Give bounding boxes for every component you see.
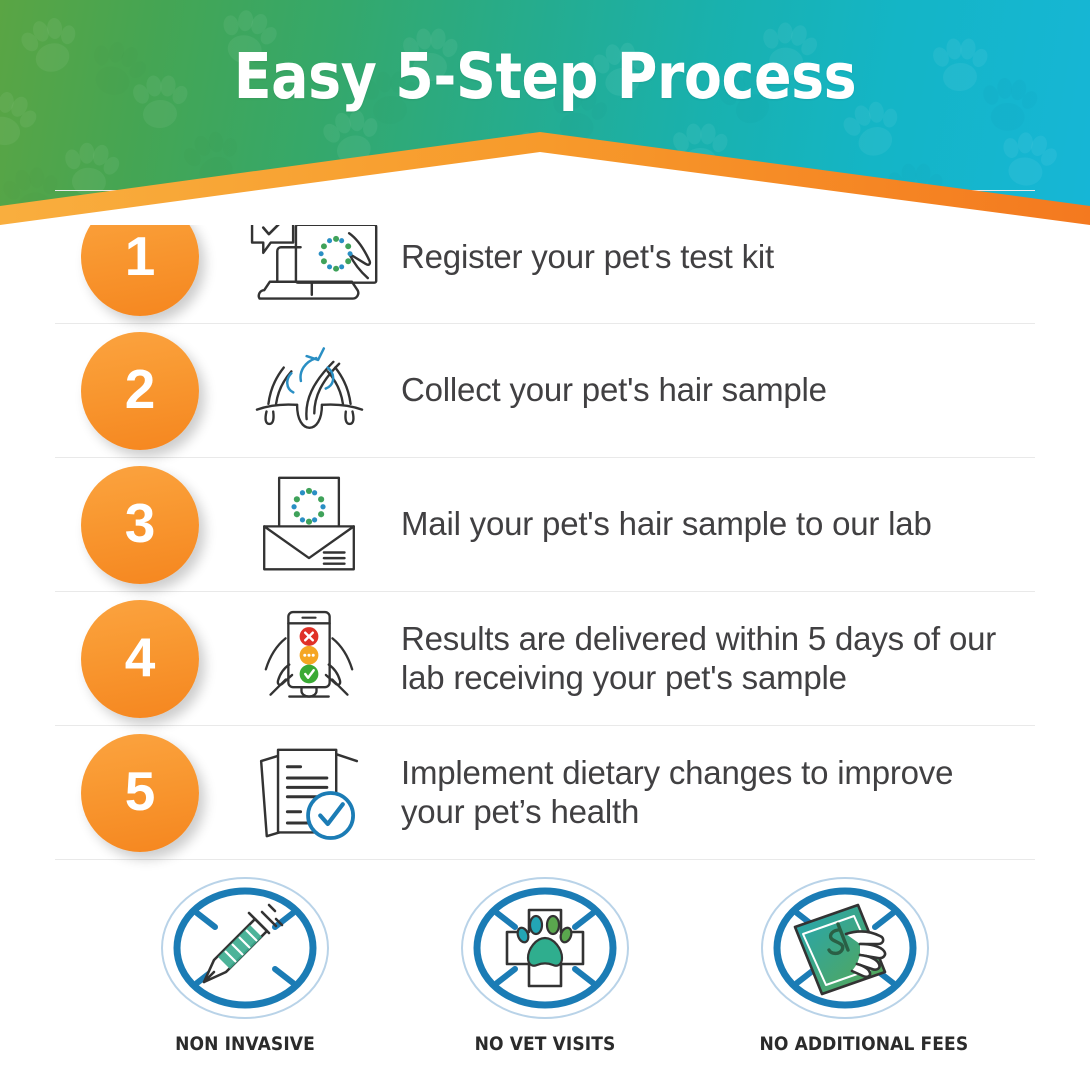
infographic-page: Easy 5-Step Process 1 [0, 0, 1090, 1070]
badge-no-vet-visits[interactable]: NO VET VISITS [450, 872, 640, 1055]
badge-label: NON INVASIVE [160, 1033, 331, 1055]
step-number-badge: 4 [81, 600, 199, 718]
step-number: 4 [125, 630, 156, 685]
step-number: 3 [125, 496, 156, 551]
phone-results-icon [239, 603, 379, 715]
step-label: Mail your pet's hair sample to our lab [401, 505, 1035, 544]
badge-label: NO VET VISITS [460, 1033, 631, 1055]
step-row[interactable]: 4 [55, 592, 1035, 726]
step-number-badge: 5 [81, 734, 199, 852]
steps-list: 1 [0, 190, 1090, 860]
chevron-divider [0, 120, 1090, 225]
documents-check-icon [239, 737, 379, 849]
step-label: Register your pet's test kit [401, 238, 1035, 277]
step-number: 2 [125, 362, 156, 417]
syringe-icon [150, 872, 340, 1027]
step-number: 5 [125, 764, 156, 819]
step-row[interactable]: 5 [55, 726, 1035, 860]
benefit-badges: NON INVASIVE [0, 872, 1090, 1055]
step-number-badge: 2 [81, 332, 199, 450]
envelope-dna-icon [239, 469, 379, 581]
page-title: Easy 5-Step Process [65, 40, 1024, 113]
step-row[interactable]: 2 [55, 324, 1035, 458]
hair-follicle-icon [239, 335, 379, 447]
vet-cross-paw-icon [450, 872, 640, 1027]
step-row[interactable]: 3 [55, 458, 1035, 592]
step-label: Results are delivered within 5 days of o… [401, 620, 1035, 698]
step-label: Collect your pet's hair sample [401, 371, 1035, 410]
step-number: 1 [125, 229, 156, 284]
badge-non-invasive[interactable]: NON INVASIVE [150, 872, 340, 1055]
badge-no-additional-fees[interactable]: NO ADDITIONAL FEES [750, 872, 940, 1055]
badge-label: NO ADDITIONAL FEES [760, 1033, 931, 1055]
step-label: Implement dietary changes to improve you… [401, 754, 1035, 832]
money-hand-icon [750, 872, 940, 1027]
step-number-badge: 3 [81, 466, 199, 584]
